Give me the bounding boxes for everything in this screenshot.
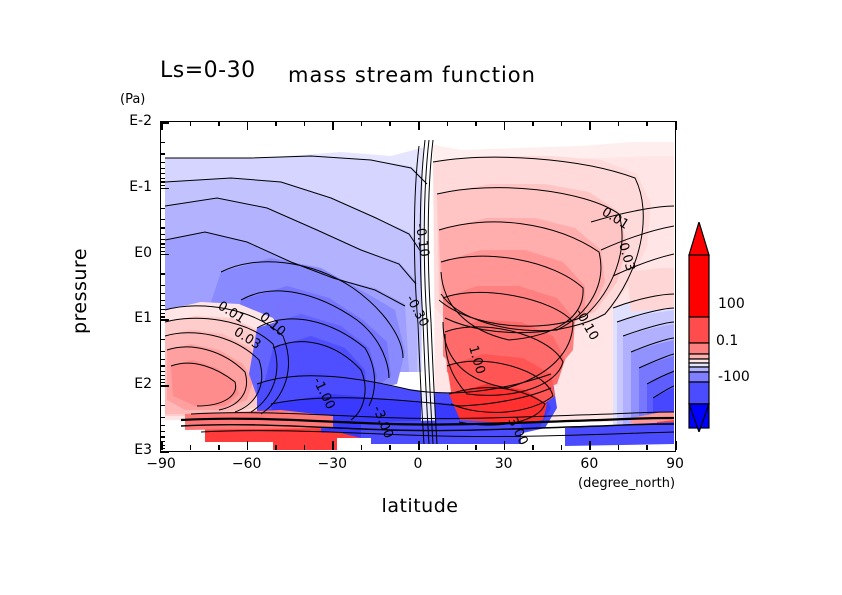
x-tick-minor xyxy=(190,445,192,450)
x-tick-label: 90 xyxy=(645,456,705,472)
x-tick-major xyxy=(504,121,506,130)
y-tick-minor xyxy=(160,251,165,252)
y-tick-minor xyxy=(160,243,165,244)
y-tick-minor xyxy=(160,285,165,286)
y-tick-label: E1 xyxy=(108,310,152,326)
y-tick-minor xyxy=(160,382,165,383)
y-axis-unit: (Pa) xyxy=(120,92,145,107)
x-tick-minor xyxy=(361,121,363,126)
colorbar-label-max: 100 xyxy=(718,296,745,312)
x-tick-minor xyxy=(561,121,563,126)
y-tick-minor xyxy=(160,173,165,174)
y-tick-minor xyxy=(160,293,165,294)
y-tick-minor xyxy=(160,359,165,360)
x-tick-major xyxy=(418,441,420,450)
y-tick-minor xyxy=(160,431,165,432)
y-tick-minor xyxy=(160,379,165,380)
y-tick-minor xyxy=(160,162,165,163)
x-tick-minor xyxy=(646,121,648,126)
y-axis-label: pressure xyxy=(69,201,91,381)
y-tick-minor xyxy=(160,371,165,372)
x-tick-label: 0 xyxy=(388,456,448,472)
y-tick-minor xyxy=(160,234,165,235)
y-tick-minor xyxy=(160,375,165,376)
y-tick-minor xyxy=(160,305,165,306)
x-tick-minor xyxy=(447,121,449,126)
x-tick-minor xyxy=(532,445,534,450)
x-tick-minor xyxy=(475,121,477,126)
colorbar-extend-top xyxy=(689,222,709,255)
x-tick-major xyxy=(504,441,506,450)
y-tick-minor xyxy=(160,168,165,169)
y-tick-minor xyxy=(160,273,165,274)
x-tick-minor xyxy=(218,445,220,450)
x-tick-major xyxy=(589,441,591,450)
y-tick-minor xyxy=(160,405,165,406)
filled-contour-bands: 0.01 0.03 -0.10 -0.30 -1.00 -3.00 0.10 0… xyxy=(161,122,674,450)
x-tick-major xyxy=(161,121,163,130)
y-tick-minor xyxy=(160,219,165,220)
x-tick-label: 60 xyxy=(559,456,619,472)
x-tick-minor xyxy=(361,445,363,450)
y-tick-minor xyxy=(160,208,165,209)
y-tick-major xyxy=(160,385,169,387)
y-tick-minor xyxy=(160,300,165,301)
x-tick-major xyxy=(418,121,420,130)
y-tick-minor xyxy=(160,365,165,366)
x-tick-minor xyxy=(646,445,648,450)
y-tick-minor xyxy=(160,181,165,182)
x-tick-label: −60 xyxy=(217,456,277,472)
x-tick-major xyxy=(675,121,677,130)
y-tick-minor xyxy=(160,153,165,154)
x-tick-label: −30 xyxy=(302,456,362,472)
x-tick-label: 30 xyxy=(474,456,534,472)
title-season: Ls=0-30 xyxy=(160,58,256,83)
contour-canvas: 0.01 0.03 -0.10 -0.30 -1.00 -3.00 0.10 0… xyxy=(161,122,674,450)
x-tick-minor xyxy=(275,445,277,450)
figure-root: Ls=0-30 mass stream function (Pa) (degre… xyxy=(0,0,842,595)
y-tick-minor xyxy=(160,178,165,179)
x-tick-minor xyxy=(447,445,449,450)
y-tick-minor xyxy=(160,351,165,352)
x-tick-minor xyxy=(190,121,192,126)
y-tick-label: E0 xyxy=(108,245,152,261)
y-tick-minor xyxy=(160,313,165,314)
x-tick-minor xyxy=(389,445,391,450)
y-tick-minor xyxy=(160,436,165,437)
y-tick-major xyxy=(160,188,169,190)
x-tick-major xyxy=(247,441,249,450)
x-tick-minor xyxy=(389,121,391,126)
y-tick-minor xyxy=(160,227,165,228)
y-tick-minor xyxy=(160,316,165,317)
x-tick-minor xyxy=(561,445,563,450)
y-tick-label: E2 xyxy=(108,376,152,392)
x-tick-label: −90 xyxy=(131,456,191,472)
y-tick-minor xyxy=(160,309,165,310)
contour-plot: 0.01 0.03 -0.10 -0.30 -1.00 -3.00 0.10 0… xyxy=(160,121,676,452)
page-title: mass stream function xyxy=(288,63,536,87)
y-tick-label: E-1 xyxy=(108,179,152,195)
y-tick-major xyxy=(160,254,169,256)
y-tick-minor xyxy=(160,239,165,240)
x-axis-label: latitude xyxy=(320,495,520,517)
y-tick-minor xyxy=(160,425,165,426)
x-tick-minor xyxy=(275,121,277,126)
y-tick-major xyxy=(160,319,169,321)
x-tick-minor xyxy=(218,121,220,126)
x-tick-minor xyxy=(475,445,477,450)
x-tick-major xyxy=(247,121,249,130)
y-tick-minor xyxy=(160,339,165,340)
y-tick-minor xyxy=(160,247,165,248)
y-tick-minor xyxy=(160,142,165,143)
x-tick-major xyxy=(332,121,334,130)
colorbar-label-mid: 0.1 xyxy=(716,333,738,349)
y-tick-minor xyxy=(160,185,165,186)
x-tick-major xyxy=(332,441,334,450)
x-tick-major xyxy=(589,121,591,130)
y-tick-label: E-2 xyxy=(108,113,152,129)
y-tick-major xyxy=(160,451,169,453)
colorbar[interactable] xyxy=(688,222,710,432)
x-tick-minor xyxy=(304,121,306,126)
x-tick-minor xyxy=(618,445,620,450)
x-axis-unit: (degree_north) xyxy=(578,476,675,491)
colorbar-label-min: -100 xyxy=(718,369,750,385)
x-tick-major xyxy=(675,441,677,450)
x-tick-minor xyxy=(532,121,534,126)
x-tick-minor xyxy=(304,445,306,450)
x-tick-major xyxy=(161,441,163,450)
y-tick-minor xyxy=(160,417,165,418)
x-tick-minor xyxy=(618,121,620,126)
